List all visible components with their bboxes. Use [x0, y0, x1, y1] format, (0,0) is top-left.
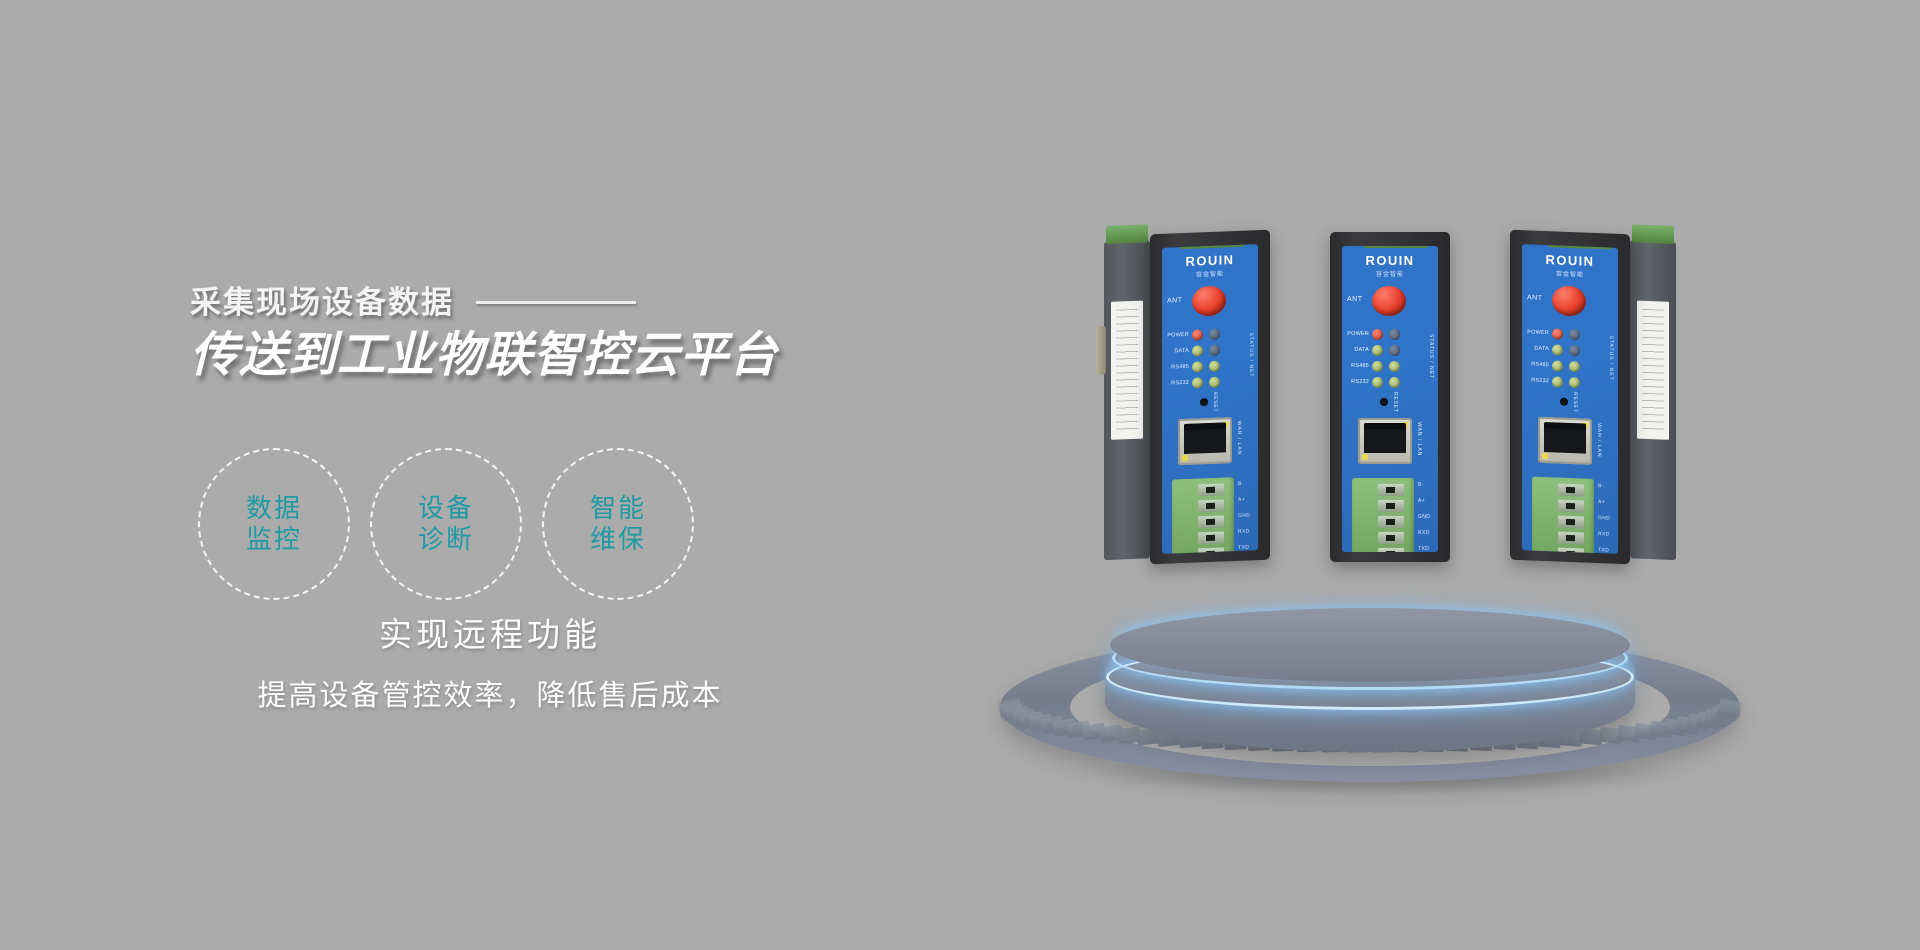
terminal-label: B- [1238, 481, 1244, 487]
led-row: DATA [1346, 342, 1422, 358]
headline-text: 传送到工业物联智控云平台 [190, 328, 910, 385]
device-faceplate: ROUIN 容金智能 ANT POWER DATA RS485 RS232 ST… [1342, 246, 1438, 552]
reset-button-icon[interactable] [1200, 398, 1208, 406]
serial-terminal-block [1532, 477, 1594, 554]
led-label: RS485 [1166, 364, 1192, 371]
led-row: RS232 [1346, 374, 1422, 390]
terminal-label: GND [1598, 515, 1610, 521]
feature-circle-smart-maintenance[interactable]: 智能 维保 [542, 448, 694, 600]
antenna-connector-icon [1192, 285, 1226, 316]
feature-label-line2: 监控 [246, 524, 302, 555]
marketing-copy: 采集现场设备数据 传送到工业物联智控云平台 [190, 280, 910, 385]
terminal-label: RXD [1238, 528, 1250, 534]
led-power-icon [1372, 329, 1383, 340]
reset-label: RESET [1572, 392, 1578, 413]
serial-terminal-block [1172, 477, 1234, 554]
terminal-label: A+ [1238, 497, 1245, 503]
led-status-icon [1569, 328, 1580, 339]
product-scene: ROUIN 容金智能 ANT POWER DATA RS485 RS232 ST… [1000, 250, 1800, 790]
led-net-icon [1209, 344, 1220, 355]
device-side-panel [1630, 240, 1676, 560]
brand-subtitle: 容金智能 [1342, 269, 1438, 278]
led-rs232-icon [1192, 377, 1203, 388]
antenna-connector-icon [1552, 285, 1586, 316]
terminal-label: TXD [1418, 546, 1429, 552]
led-row: RS232 [1166, 373, 1242, 392]
eyebrow-rule [476, 301, 636, 304]
terminal-label: GND [1238, 512, 1250, 518]
led-data-icon [1192, 345, 1203, 356]
led-row: RS232 [1526, 372, 1602, 391]
reset-label: RESET [1392, 392, 1398, 413]
led-rs485-icon [1372, 361, 1383, 372]
led-label: DATA [1346, 347, 1372, 353]
led-label: DATA [1166, 348, 1192, 355]
feature-circle-device-diagnosis[interactable]: 设备 诊断 [370, 448, 522, 600]
eyebrow-row: 采集现场设备数据 [190, 280, 910, 324]
led-label: POWER [1526, 329, 1552, 336]
terminal-label: A+ [1598, 499, 1605, 505]
led-rs485-icon [1192, 361, 1203, 372]
feature-circle-data-monitoring[interactable]: 数据 监控 [198, 448, 350, 600]
antenna-connector-icon [1372, 286, 1406, 316]
led-label: RS485 [1526, 361, 1552, 368]
device-spec-sticker [1111, 301, 1143, 440]
side-terminal-block [1632, 224, 1674, 244]
led-label: POWER [1166, 332, 1192, 339]
led-status-icon [1209, 328, 1220, 339]
feature-label-line1: 数据 [246, 493, 302, 524]
side-terminal-block [1106, 224, 1148, 244]
led-indicator-group: POWER DATA RS485 RS232 [1526, 324, 1602, 391]
led-rs485b-icon [1569, 360, 1580, 371]
led-label: RS485 [1346, 363, 1372, 369]
antenna-label: ANT [1167, 297, 1183, 305]
terminal-label: GND [1418, 514, 1430, 520]
port-label: WAN / LAN [1416, 422, 1422, 456]
led-label: RS232 [1346, 379, 1372, 385]
rj45-ethernet-port [1178, 417, 1232, 465]
led-rs485-icon [1552, 360, 1563, 371]
led-rs232b-icon [1389, 377, 1400, 388]
reset-button-icon[interactable] [1380, 398, 1388, 406]
led-rs232b-icon [1209, 376, 1220, 387]
banner-root: 采集现场设备数据 传送到工业物联智控云平台 数据 监控 设备 诊断 智能 维保 … [0, 0, 1920, 950]
led-rs232-icon [1552, 376, 1563, 387]
serial-terminal-block [1352, 478, 1414, 552]
port-label: WAN / LAN [1236, 421, 1242, 456]
terminal-label: A+ [1418, 498, 1425, 504]
eyebrow-text: 采集现场设备数据 [190, 287, 454, 318]
led-data-icon [1372, 345, 1383, 356]
terminal-label: B- [1418, 482, 1424, 488]
sub-body-text: 提高设备管控效率，降低售后成本 [190, 672, 790, 714]
terminal-label: TXD [1238, 544, 1249, 550]
sub-title-text: 实现远程功能 [190, 608, 790, 656]
port-label: WAN / LAN [1596, 423, 1602, 458]
din-rail-clip [1096, 326, 1106, 374]
led-indicator-group: POWER DATA RS485 RS232 [1166, 325, 1242, 392]
led-data-icon [1552, 344, 1563, 355]
iot-gateway-device-right[interactable]: ROUIN 容金智能 ANT POWER DATA RS485 RS232 ST… [1510, 230, 1630, 565]
led-label: POWER [1346, 331, 1372, 337]
device-faceplate: ROUIN 容金智能 ANT POWER DATA RS485 RS232 ST… [1162, 244, 1258, 554]
feature-label-line2: 诊断 [418, 524, 474, 555]
power-terminal-block [1364, 246, 1428, 248]
device-side-panel [1104, 240, 1150, 560]
led-row: POWER [1346, 326, 1422, 342]
status-net-label: STATUS / NET [1608, 335, 1614, 380]
status-net-label: STATUS / NET [1248, 332, 1254, 377]
rj45-ethernet-port [1538, 417, 1592, 465]
status-net-label: STATUS / NET [1428, 334, 1434, 379]
reset-label: RESET [1212, 392, 1218, 413]
terminal-label: TXD [1598, 547, 1609, 553]
device-faceplate: ROUIN 容金智能 ANT POWER DATA RS485 RS232 ST… [1522, 244, 1618, 554]
led-label: RS232 [1526, 377, 1552, 384]
led-power-icon [1552, 328, 1563, 339]
device-spec-sticker [1637, 301, 1669, 440]
led-net-icon [1569, 344, 1580, 355]
feature-circle-group: 数据 监控 设备 诊断 智能 维保 [198, 448, 694, 600]
device-group: ROUIN 容金智能 ANT POWER DATA RS485 RS232 ST… [1000, 250, 1800, 670]
antenna-label: ANT [1347, 296, 1363, 303]
brand-logo: ROUIN [1342, 253, 1438, 268]
terminal-label: B- [1598, 483, 1604, 489]
led-row: RS485 [1346, 358, 1422, 374]
rj45-ethernet-port [1358, 418, 1412, 464]
iot-gateway-device-center[interactable]: ROUIN 容金智能 ANT POWER DATA RS485 RS232 ST… [1330, 232, 1450, 562]
led-net-icon [1389, 345, 1400, 356]
led-power-icon [1192, 329, 1203, 340]
terminal-label: RXD [1598, 531, 1610, 537]
feature-label-line1: 设备 [418, 493, 474, 524]
led-indicator-group: POWER DATA RS485 RS232 [1346, 326, 1422, 390]
led-rs232b-icon [1569, 376, 1580, 387]
antenna-label: ANT [1527, 294, 1543, 302]
led-rs232-icon [1372, 377, 1383, 388]
led-rs485b-icon [1209, 360, 1220, 371]
feature-label-line1: 智能 [590, 493, 646, 524]
feature-label-line2: 维保 [590, 524, 646, 555]
led-label: DATA [1526, 345, 1552, 352]
led-label: RS232 [1166, 380, 1192, 387]
reset-button-icon[interactable] [1560, 398, 1568, 406]
led-rs485b-icon [1389, 361, 1400, 372]
iot-gateway-device-left[interactable]: ROUIN 容金智能 ANT POWER DATA RS485 RS232 ST… [1150, 230, 1270, 565]
led-status-icon [1389, 329, 1400, 340]
terminal-label: RXD [1418, 530, 1430, 536]
